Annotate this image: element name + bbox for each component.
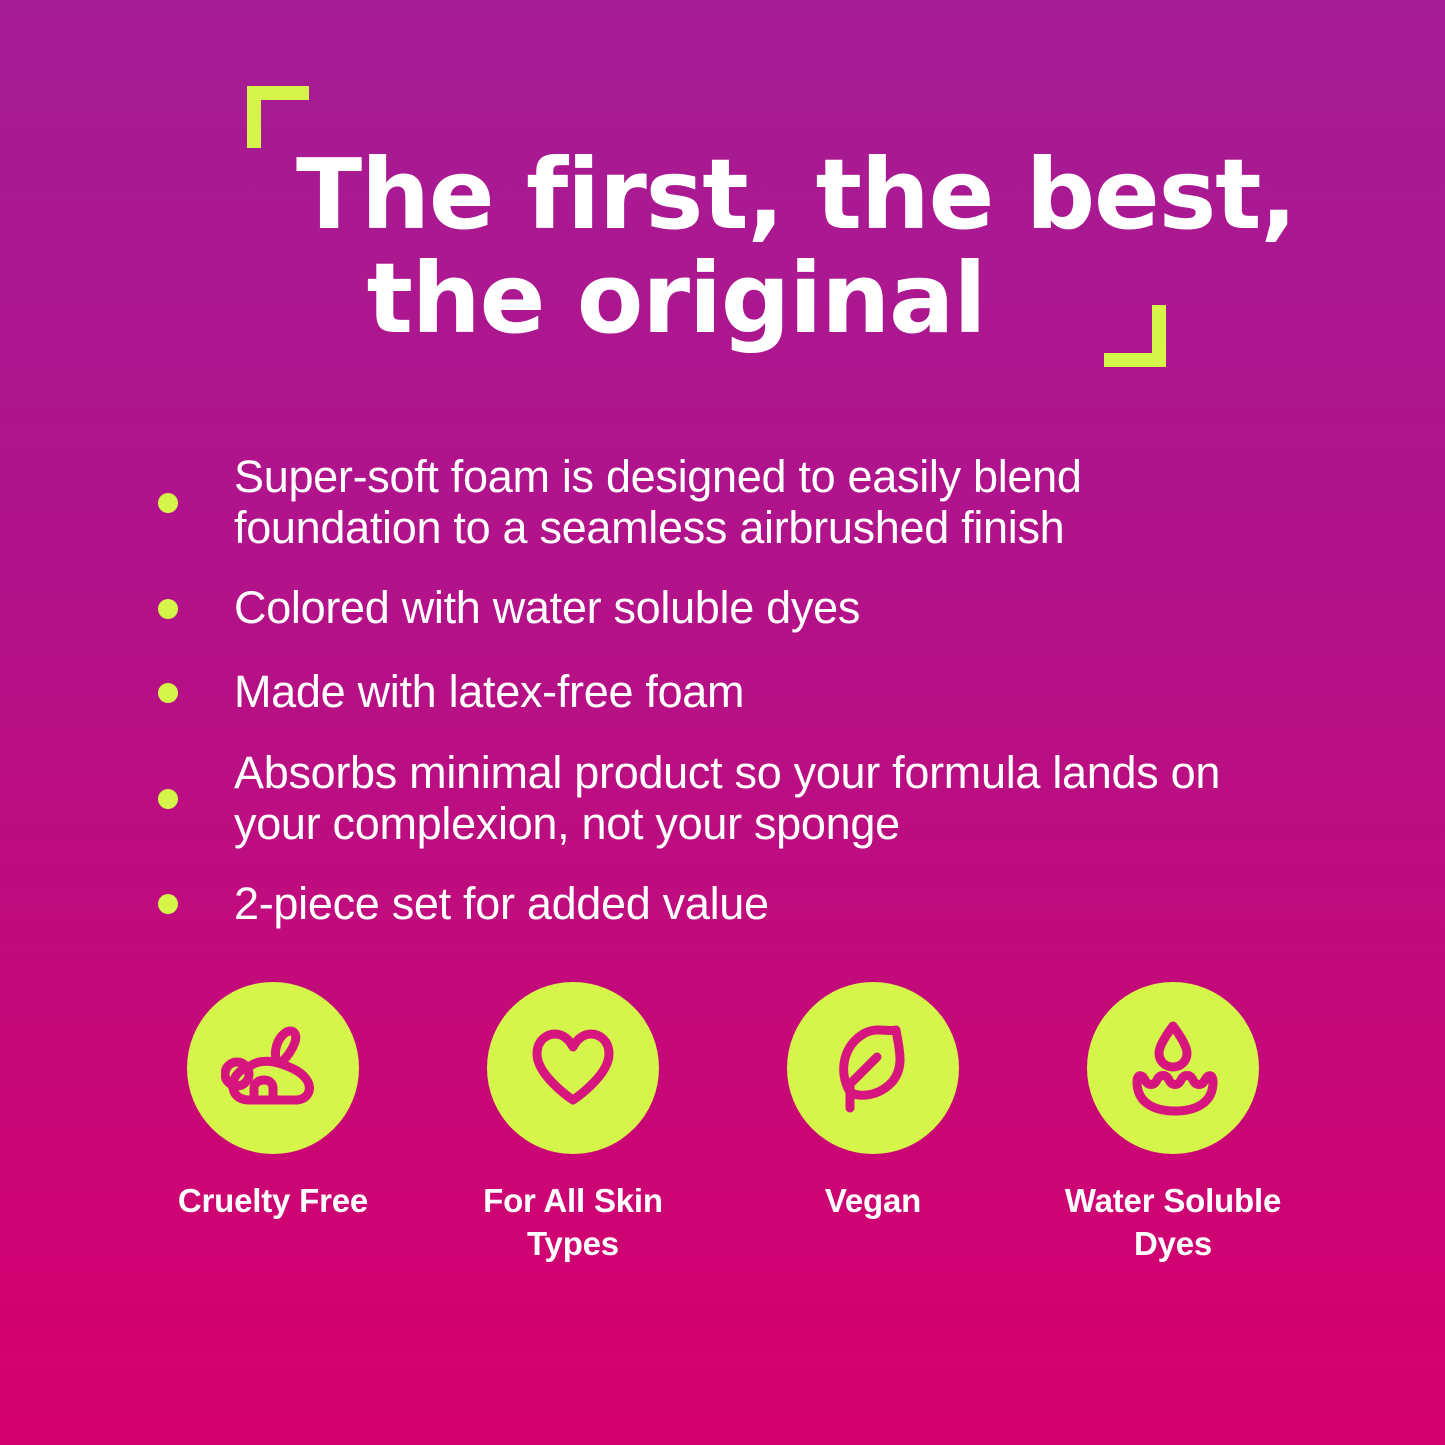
badge-label: For All Skin Types — [458, 1180, 688, 1266]
bullet-text: 2-piece set for added value — [234, 879, 769, 930]
badge-water-soluble-dyes: Water Soluble Dyes — [1058, 982, 1288, 1266]
bullet-text: Colored with water soluble dyes — [234, 583, 860, 634]
list-item: Absorbs minimal product so your formula … — [158, 748, 1278, 850]
feature-bullet-list: Super-soft foam is designed to easily bl… — [158, 452, 1278, 959]
badge-circle — [187, 982, 359, 1154]
headline-line-2: the original — [296, 247, 1056, 351]
badge-circle — [487, 982, 659, 1154]
bullet-dot-icon — [158, 894, 178, 914]
leaf-icon — [833, 1022, 913, 1114]
bracket-arm-vertical — [247, 86, 261, 148]
headline: The first, the best, the original — [296, 143, 1196, 351]
headline-line-1: The first, the best, — [296, 143, 1196, 247]
list-item: Made with latex-free foam — [158, 664, 1278, 722]
attribute-badge-row: Cruelty Free For All Skin Types — [158, 982, 1288, 1266]
badge-label: Vegan — [825, 1180, 921, 1223]
bullet-text: Super-soft foam is designed to easily bl… — [234, 452, 1278, 554]
list-item: Colored with water soluble dyes — [158, 580, 1278, 638]
heart-icon — [529, 1028, 617, 1108]
bullet-text: Absorbs minimal product so your formula … — [234, 748, 1278, 850]
bullet-dot-icon — [158, 493, 178, 513]
badge-vegan: Vegan — [758, 982, 988, 1266]
list-item: 2-piece set for added value — [158, 875, 1278, 933]
bullet-dot-icon — [158, 789, 178, 809]
badge-label: Water Soluble Dyes — [1058, 1180, 1288, 1266]
badge-for-all-skin-types: For All Skin Types — [458, 982, 688, 1266]
feature-graphic: The first, the best, the original Super-… — [0, 0, 1445, 1445]
bullet-dot-icon — [158, 683, 178, 703]
badge-circle — [1087, 982, 1259, 1154]
badge-circle — [787, 982, 959, 1154]
water-drop-icon — [1121, 1020, 1225, 1116]
rabbit-icon — [221, 1022, 325, 1114]
list-item: Super-soft foam is designed to easily bl… — [158, 452, 1278, 554]
badge-label: Cruelty Free — [178, 1180, 368, 1223]
bullet-text: Made with latex-free foam — [234, 667, 744, 718]
badge-cruelty-free: Cruelty Free — [158, 982, 388, 1266]
bullet-dot-icon — [158, 599, 178, 619]
